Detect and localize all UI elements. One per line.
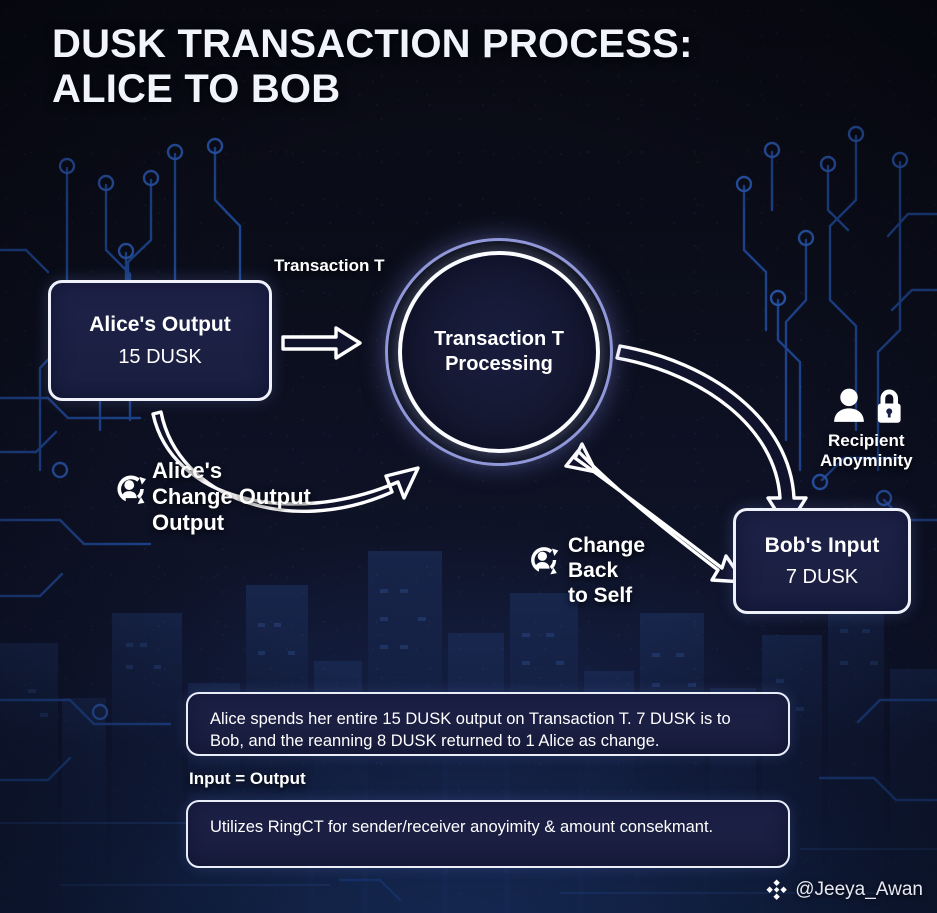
label-change-back-to-self: Change Back to Self (568, 534, 645, 608)
person-change-icon (110, 468, 152, 510)
label-recipient-anonymity: Recipient Anoyminity (820, 431, 913, 471)
alice-output-title: Alice's Output (89, 312, 231, 337)
page-title: DUSK TRANSACTION PROCESS: ALICE TO BOB (52, 22, 693, 112)
callout-ringct-text: Utilizes RingCT for sender/receiver anoy… (210, 816, 720, 838)
callout-summary-text: Alice spends her entire 15 DUSK output o… (210, 710, 731, 750)
node-alice-output[interactable]: Alice's Output 15 DUSK (48, 280, 272, 401)
callout-summary: Alice spends her entire 15 DUSK output o… (186, 692, 790, 756)
bob-input-amount: 7 DUSK (786, 565, 858, 589)
diamond-cluster-icon (765, 879, 787, 901)
node-bob-input[interactable]: Bob's Input 7 DUSK (733, 508, 911, 614)
person-change-icon (524, 540, 564, 580)
node-transaction-processing[interactable]: Transaction T Processing (385, 238, 613, 466)
bob-input-title: Bob's Input (765, 533, 880, 558)
infographic-canvas: DUSK TRANSACTION PROCESS: ALICE TO BOB A… (0, 0, 937, 913)
person-lock-icon (829, 386, 911, 428)
label-input-equals-output: Input = Output (189, 769, 306, 789)
label-transaction-t: Transaction T (274, 256, 385, 276)
label-alice-change-output: Alice's Change Output Output (152, 458, 311, 536)
callout-ringct: Utilizes RingCT for sender/receiver anoy… (186, 800, 790, 868)
watermark-handle: @Jeeya_Awan (795, 879, 923, 901)
watermark: @Jeeya_Awan (765, 879, 923, 901)
processing-label: Transaction T Processing (434, 327, 564, 377)
alice-output-amount: 15 DUSK (118, 345, 201, 369)
